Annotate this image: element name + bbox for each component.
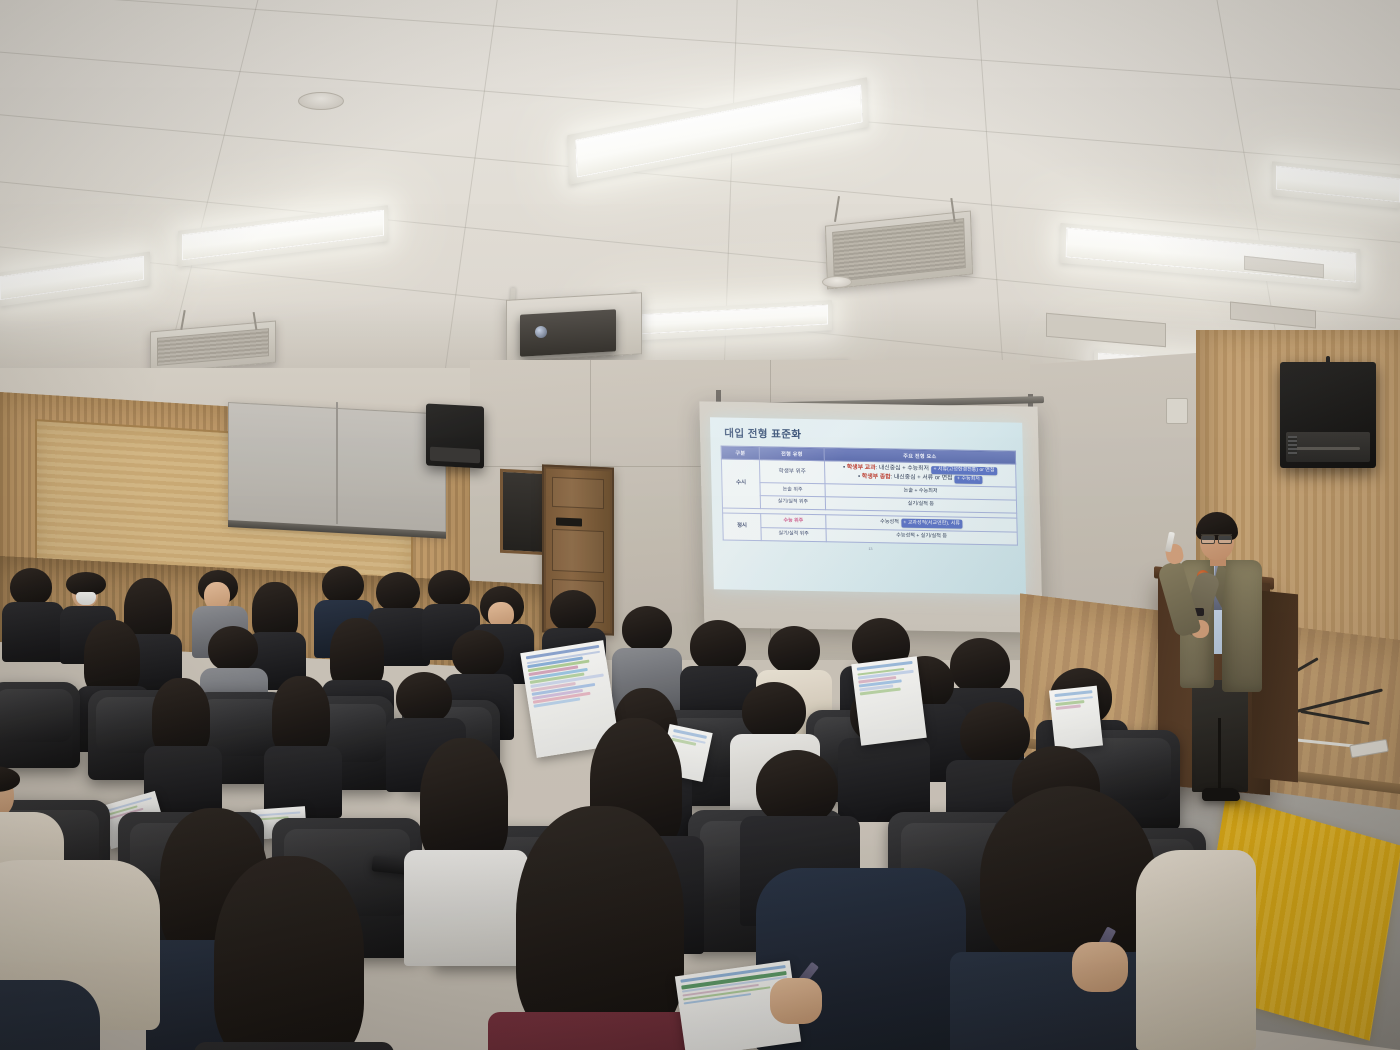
- glasses-icon: [1201, 534, 1232, 541]
- slide-elements-silgi-jeongsi: 수능성적 + 실기/실적 등: [826, 529, 1018, 545]
- slide-group-jeongsi: 정시: [723, 513, 762, 540]
- auditorium-seat[interactable]: [0, 682, 80, 768]
- slide-rest-gyogwa: : 내신중심 + 수능최저: [876, 466, 930, 473]
- slide-table: 구분 전형 유형 주요 전형 요소 수시 학생부 위주 ▪ 학생부 교과: 내신…: [721, 445, 1018, 545]
- slide-title: 대입 전형 표준화: [724, 426, 1016, 446]
- audience-seating-area: [0, 560, 1240, 1050]
- slide-elements-hakbu: ▪ 학생부 교과: 내신중심 + 수능최저+ 서류(고성한경전통) or 면접 …: [824, 461, 1016, 487]
- projector-lens-icon: [535, 326, 547, 338]
- smoke-detector-icon: [298, 92, 344, 110]
- student-handout: [1049, 686, 1103, 751]
- slide-type-silgi-jeongsi: 실기/실적 위주: [761, 528, 826, 542]
- slide-col-0: 구분: [721, 446, 760, 460]
- slide-type-nonsul: 논술 위주: [760, 483, 825, 497]
- slide-type-hakbu: 학생부 위주: [760, 460, 825, 484]
- wall-junction-box: [1166, 398, 1188, 424]
- slide-chip-suneung: + 수능최저: [954, 475, 982, 484]
- back-wall-window: [500, 469, 548, 556]
- slide-type-silgi-susi: 실기/실적 위주: [760, 496, 825, 510]
- right-wall-speaker: [1280, 362, 1376, 468]
- door-handle-icon[interactable]: [556, 517, 582, 526]
- slide-page-number: 13: [723, 544, 1018, 553]
- auditorium-photo: 대입 전형 표준화 구분 전형 유형 주요 전형 요소 수시 학생부 위주 ▪ …: [0, 0, 1400, 1050]
- slide-group-susi: 수시: [721, 459, 760, 508]
- left-wall-speaker: [426, 403, 484, 468]
- slide-key-jonghap: 학생부 종합: [862, 474, 891, 481]
- slide-type-suneung: 수능 위주: [761, 514, 826, 529]
- slide-rest-jonghap: : 내신중심 + 서류 or 면접: [891, 475, 953, 482]
- slide-key-gyogwa: 학생부 교과: [847, 465, 876, 472]
- cabinet-divider: [336, 402, 338, 524]
- smoke-detector-icon: [822, 276, 852, 288]
- slide-col-1: 전형 유형: [759, 447, 824, 461]
- student-handout: [851, 656, 927, 745]
- slide-chip-gyogwa: + 교과성적(서교연한), 서류: [901, 519, 963, 529]
